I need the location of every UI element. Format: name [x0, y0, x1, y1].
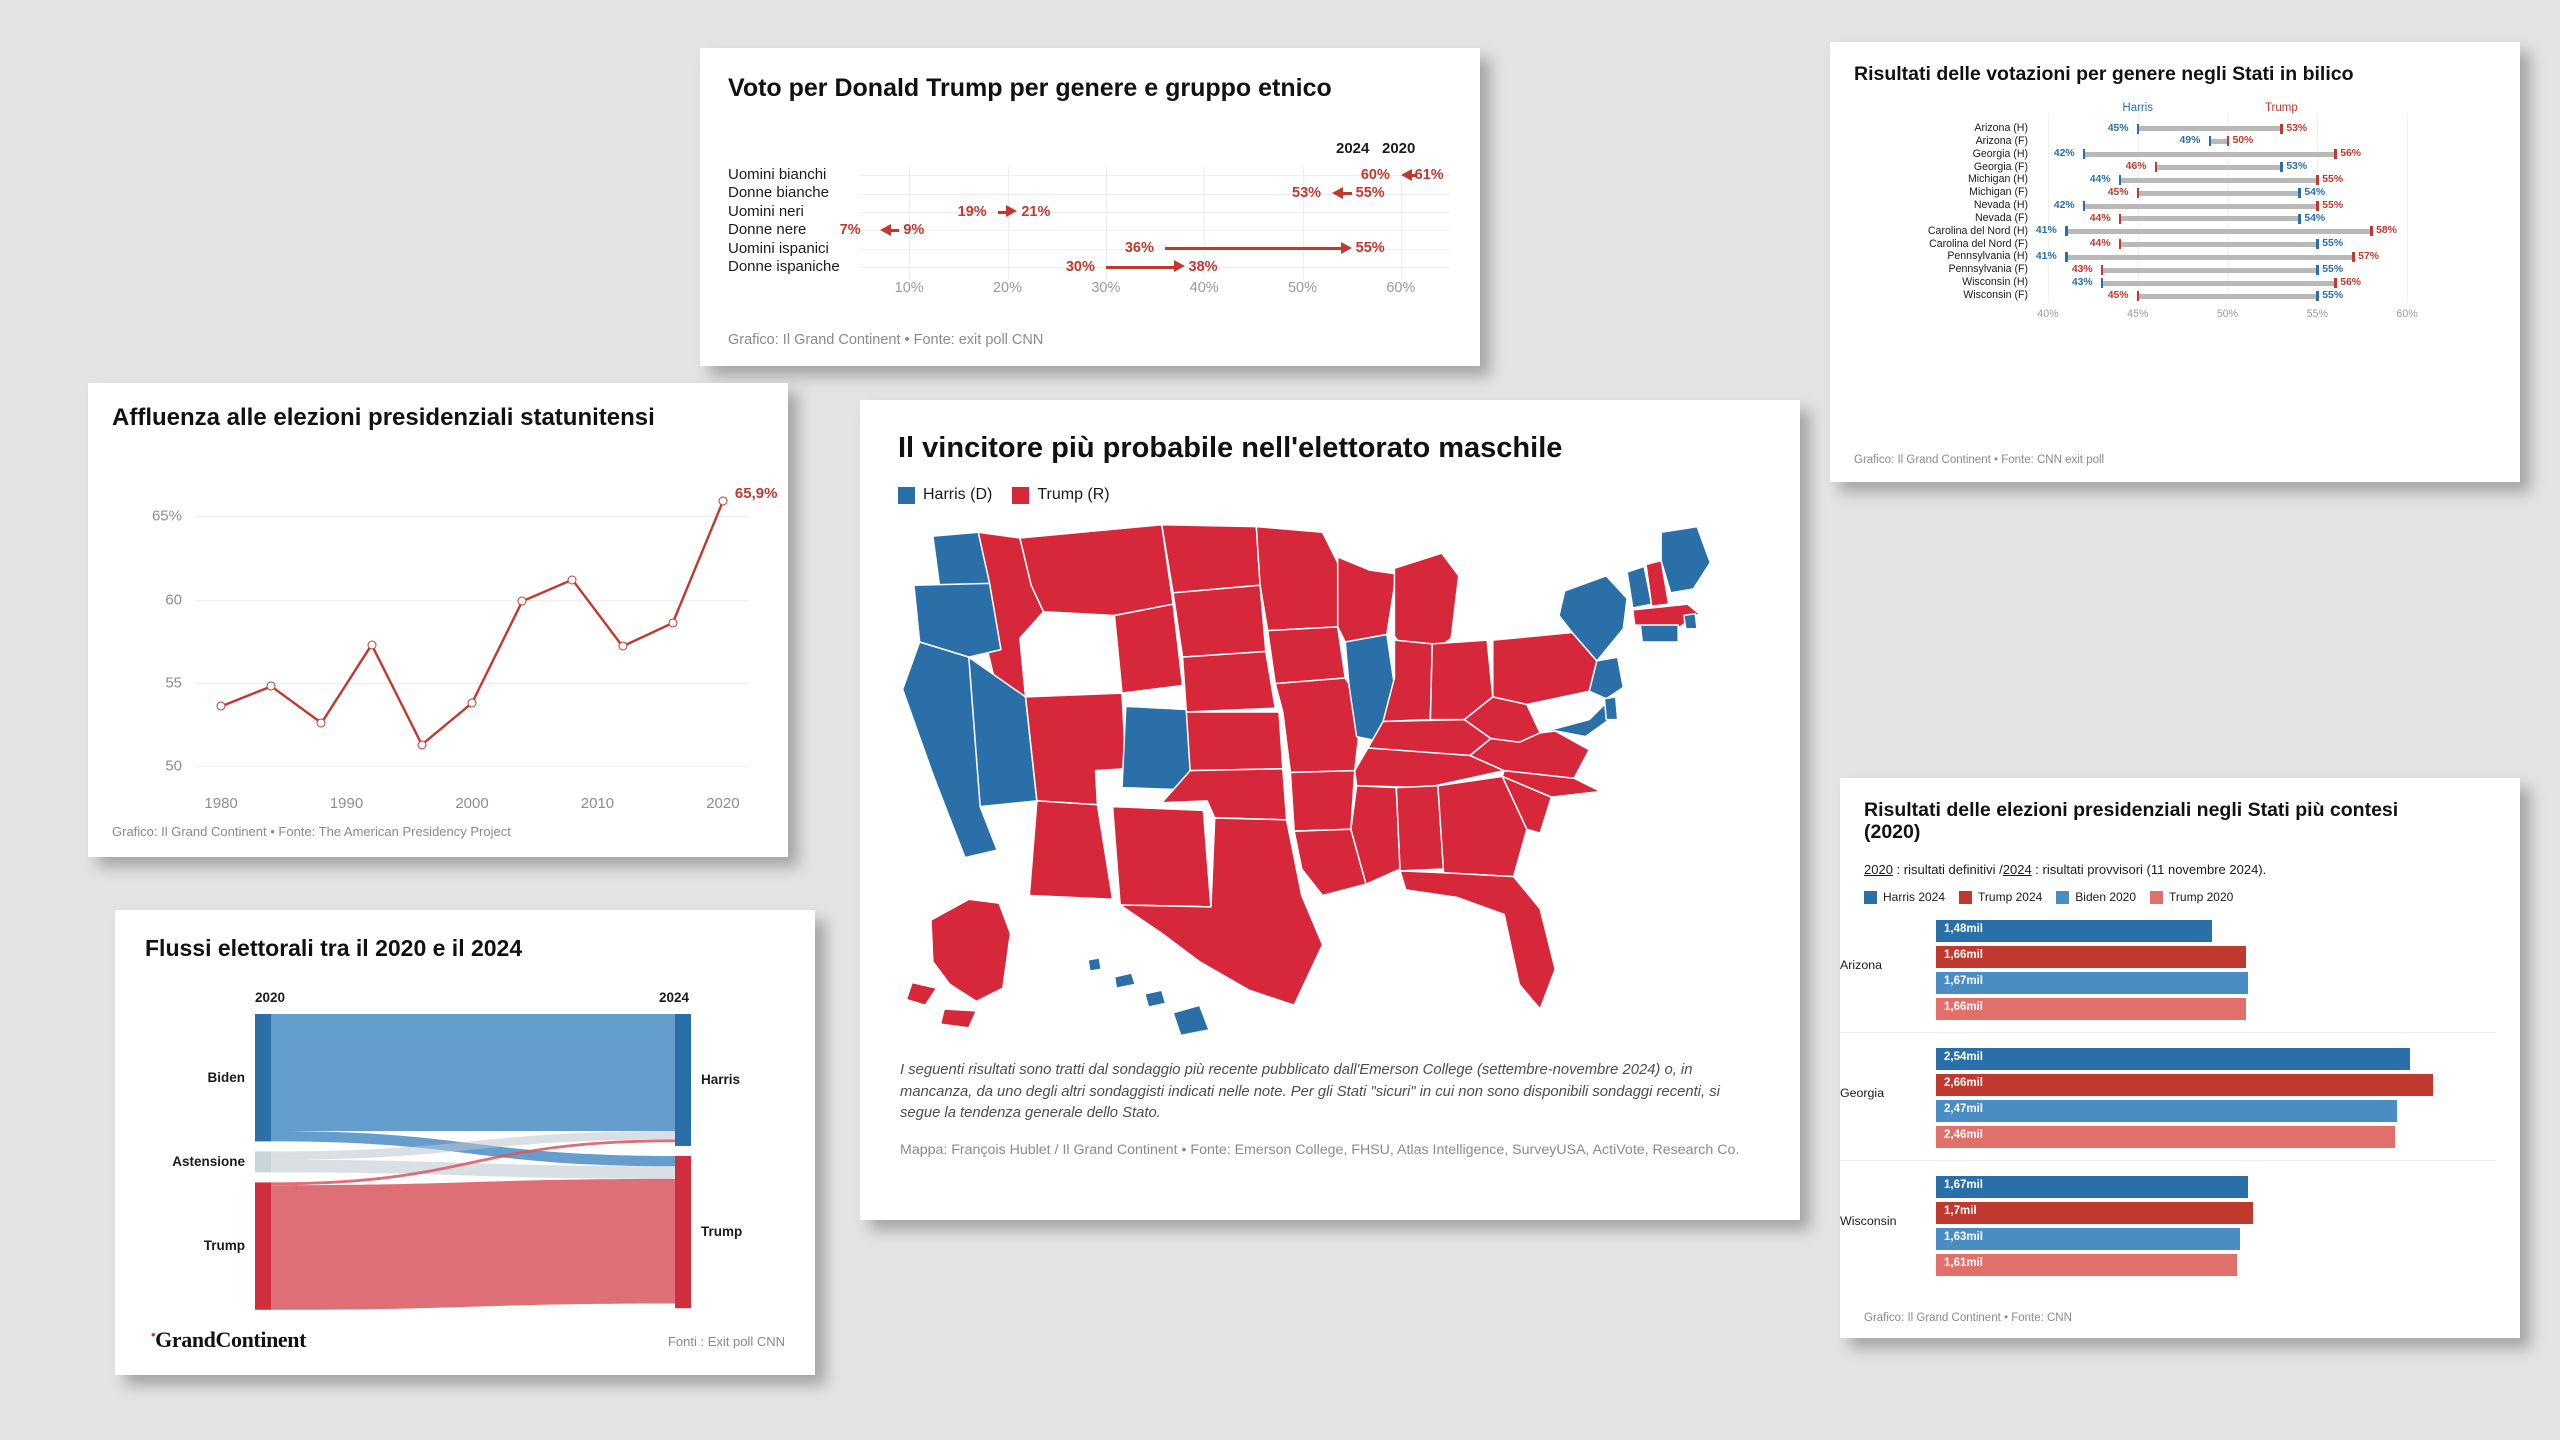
sankey-node-right-harris[interactable]: [675, 1014, 691, 1146]
grand-continent-logo: •GrandContinent: [151, 1327, 306, 1353]
state-wisconsin: [1338, 557, 1397, 642]
arrow-row-label: Uomini ispanici: [728, 240, 858, 258]
bars-legend-swatch-2: [2056, 891, 2069, 904]
swing-value-left: 43%: [2072, 277, 2093, 288]
bars-chart-plot: 1,48mil1,66mil1,67mil1,66milArizona2,54m…: [1936, 920, 2496, 1270]
arrow-row: 61%60%: [860, 166, 1450, 184]
bars-group-separator: [1840, 1160, 2496, 1161]
arrow-value-from: 9%: [903, 222, 924, 238]
state-southdakota: [1173, 585, 1266, 657]
state-iowa: [1268, 627, 1346, 684]
swing-row: 46%53%: [2030, 161, 2425, 174]
bars-group-label-wisconsin: Wisconsin: [1840, 1214, 1896, 1228]
arrow-row-label: Donne bianche: [728, 184, 858, 202]
bars-legend-label-3: Trump 2020: [2169, 890, 2233, 904]
swing-row: 41%58%: [2030, 225, 2425, 238]
arrow-shaft: [890, 229, 900, 232]
state-missouri: [1275, 678, 1362, 773]
swing-tick-right: [2334, 149, 2337, 159]
arrow-value-from: 61%: [1415, 167, 1444, 183]
bars-legend-label-1: Trump 2024: [1978, 890, 2042, 904]
bars-legend-label-0: Harris 2024: [1883, 890, 1945, 904]
arrow-row-label: Uomini bianchi: [728, 166, 858, 184]
swing-bar: [2138, 126, 2282, 131]
swing-tick-left: [2119, 175, 2122, 185]
swing-tick-left: [2119, 239, 2122, 249]
swing-row-label: Wisconsin (F): [1844, 289, 2028, 302]
swing-tick-left: [2155, 162, 2158, 172]
sankey-node-left-biden[interactable]: [255, 1014, 271, 1141]
swing-bar: [2066, 229, 2371, 234]
swing-value-right: 56%: [2340, 277, 2361, 288]
swing-value-left: 49%: [2180, 135, 2201, 146]
turnout-x-tick: 2000: [455, 795, 488, 812]
arrow-chart-plot: 10%20%30%40%50%60%61%60%55%53%19%21%9%7%…: [860, 166, 1450, 276]
state-alaska: [906, 899, 1010, 1028]
swing-row-label: Arizona (H): [1844, 122, 2028, 135]
swing-x-tick: 60%: [2396, 308, 2417, 320]
arrow-row: 19%21%: [860, 203, 1450, 221]
sankey-node-left-astensione[interactable]: [255, 1151, 271, 1172]
turnout-data-point: [417, 740, 426, 749]
arrow-value-to: 7%: [840, 222, 861, 238]
swing-bar: [2138, 191, 2300, 196]
arrow-value-to: 21%: [1021, 204, 1050, 220]
arrow-value-to: 53%: [1292, 185, 1321, 201]
us-states-map[interactable]: [878, 512, 1786, 1052]
swing-value-left: 44%: [2090, 238, 2111, 249]
swing-bar: [2084, 152, 2335, 157]
swing-row: 43%55%: [2030, 263, 2425, 276]
swing-row-label: Pennsylvania (F): [1844, 263, 2028, 276]
turnout-x-tick: 2010: [581, 795, 614, 812]
turnout-data-point: [618, 642, 627, 651]
swing-header-trump: Trump: [2265, 102, 2298, 114]
swing-tick-right: [2316, 175, 2319, 185]
bars-legend-swatch-3: [2150, 891, 2163, 904]
arrow-row-label: Uomini neri: [728, 203, 858, 221]
swing-row-label: Carolina del Nord (H): [1844, 225, 2028, 238]
arrow-value-to: 55%: [1356, 240, 1385, 256]
swing-row-label: Georgia (H): [1844, 148, 2028, 161]
swing-row: 43%56%: [2030, 276, 2425, 289]
swing-tick-right: [2334, 278, 2337, 288]
swing-tick-right: [2280, 162, 2283, 172]
bars-bar-georgia-1[interactable]: 2,66mil: [1936, 1074, 2433, 1096]
swing-chart-source: Grafico: Il Grand Continent • Fonte: CNN…: [1854, 454, 2104, 466]
swing-row: 42%56%: [2030, 148, 2425, 161]
state-kansas: [1186, 712, 1282, 771]
bars-bar-value: 1,61mil: [1944, 1257, 1983, 1269]
turnout-line-path: [196, 483, 748, 783]
swing-x-tick: 45%: [2127, 308, 2148, 320]
swing-bar: [2138, 294, 2318, 299]
swing-tick-right: [2227, 136, 2230, 146]
swing-row-label: Pennsylvania (H): [1844, 250, 2028, 263]
swing-value-right: 57%: [2358, 251, 2379, 262]
turnout-y-tick: 50: [165, 758, 182, 775]
arrow-year-2024-label: 2024: [1336, 140, 1369, 157]
turnout-chart-plot: 65%6055501980199020002010202065,9%: [196, 483, 748, 783]
map-legend: Harris (D) Trump (R): [898, 486, 1110, 504]
swing-tick-right: [2370, 226, 2373, 236]
swing-x-tick: 55%: [2307, 308, 2328, 320]
swing-tick-left: [2137, 291, 2140, 301]
swing-value-left: 41%: [2036, 251, 2057, 262]
swing-row: 45%53%: [2030, 122, 2425, 135]
state-maryland: [1540, 703, 1612, 737]
swing-row-label: Carolina del Nord (F): [1844, 238, 2028, 251]
swing-value-left: 42%: [2054, 148, 2075, 159]
arrow-x-tick: 40%: [1190, 280, 1219, 296]
subtitle-year-2020: 2020: [1864, 862, 1893, 877]
swing-bar: [2120, 242, 2318, 247]
swing-header-harris: Harris: [2122, 102, 2153, 114]
swing-value-right: 53%: [2286, 161, 2307, 172]
bars-bar-georgia-2[interactable]: 2,47mil: [1936, 1100, 2397, 1122]
harris-color-swatch: [898, 487, 915, 504]
bars-group-label-arizona: Arizona: [1840, 958, 1882, 972]
bars-legend-label-2: Biden 2020: [2075, 890, 2136, 904]
bars-bar-value: 2,54mil: [1944, 1051, 1983, 1063]
swing-x-tick: 50%: [2217, 308, 2238, 320]
swing-row-label: Michigan (H): [1844, 173, 2028, 186]
bars-bar-arizona-1[interactable]: 1,66mil: [1936, 946, 2246, 968]
swing-tick-right: [2298, 188, 2301, 198]
sankey-right-year: 2024: [659, 990, 689, 1005]
arrow-value-from: 30%: [1066, 259, 1095, 275]
swing-row: 44%54%: [2030, 212, 2425, 225]
swing-row: 45%55%: [2030, 289, 2425, 302]
turnout-x-tick: 1990: [330, 795, 363, 812]
turnout-chart-title: Affluenza alle elezioni presidenziali st…: [112, 405, 655, 432]
swing-tick-right: [2316, 239, 2319, 249]
state-minnesota: [1256, 527, 1343, 631]
state-nebraska: [1183, 651, 1276, 712]
swing-tick-right: [2298, 214, 2301, 224]
state-florida: [1400, 871, 1555, 1009]
bars-legend-swatch-0: [1864, 891, 1877, 904]
arrow-row-label: Donne ispaniche: [728, 258, 858, 276]
turnout-annotation: 65,9%: [735, 485, 778, 502]
swing-value-right: 53%: [2286, 123, 2307, 134]
arrow-value-from: 36%: [1125, 240, 1154, 256]
bars-legend-item-1: Trump 2024: [1959, 890, 2042, 904]
swing-tick-right: [2352, 252, 2355, 262]
turnout-y-tick: 60: [165, 591, 182, 608]
arrow-row: 55%53%: [860, 184, 1450, 202]
state-newmexico: [1113, 807, 1211, 907]
swing-bar: [2084, 204, 2317, 209]
arrow-x-tick: 20%: [993, 280, 1022, 296]
bars-bar-wisconsin-1[interactable]: 1,7mil: [1936, 1202, 2253, 1224]
turnout-data-point: [568, 575, 577, 584]
swing-value-left: 45%: [2108, 123, 2129, 134]
subtitle-text-b: : risultati provvisori (11 novembre 2024…: [2032, 862, 2267, 877]
swing-tick-left: [2101, 278, 2104, 288]
swing-tick-left: [2083, 201, 2086, 211]
swing-tick-left: [2083, 149, 2086, 159]
swing-states-panel: Risultati delle votazioni per genere neg…: [1830, 42, 2520, 482]
swing-value-left: 46%: [2126, 161, 2147, 172]
arrow-x-tick: 50%: [1288, 280, 1317, 296]
arrow-chart-title: Voto per Donald Trump per genere e grupp…: [728, 74, 1332, 102]
arrow-row: 36%55%: [860, 239, 1450, 257]
swing-tick-right: [2316, 291, 2319, 301]
harris-legend-label: Harris (D): [923, 486, 992, 504]
turnout-data-point: [267, 682, 276, 691]
bars-group-label-georgia: Georgia: [1840, 1086, 1884, 1100]
bars-chart-source: Grafico: Il Grand Continent • Fonte: CNN: [1864, 1312, 2072, 1324]
bars-bar-wisconsin-3[interactable]: 1,61mil: [1936, 1254, 2237, 1276]
bars-legend-item-3: Trump 2020: [2150, 890, 2233, 904]
arrow-row: 30%38%: [860, 258, 1450, 276]
arrow-value-from: 19%: [958, 204, 987, 220]
arrow-shaft: [1165, 247, 1342, 250]
swing-value-right: 56%: [2340, 148, 2361, 159]
swing-value-right: 55%: [2322, 200, 2343, 211]
swing-x-tick: 40%: [2037, 308, 2058, 320]
swing-tick-left: [2209, 136, 2212, 146]
voter-flow-panel: Flussi elettorali tra il 2020 e il 2024 …: [115, 910, 815, 1375]
swing-row-label: Nevada (H): [1844, 199, 2028, 212]
swing-bar: [2156, 165, 2282, 170]
bars-bar-value: 1,48mil: [1944, 923, 1983, 935]
arrow-head: [1006, 205, 1017, 217]
turnout-x-tick: 1980: [204, 795, 237, 812]
swing-value-left: 45%: [2108, 290, 2129, 301]
swing-value-left: 43%: [2072, 264, 2093, 275]
bars-bar-wisconsin-0[interactable]: 1,67mil: [1936, 1176, 2248, 1198]
swing-row-label: Nevada (F): [1844, 212, 2028, 225]
turnout-data-point: [367, 640, 376, 649]
swing-value-right: 55%: [2322, 290, 2343, 301]
swing-tick-left: [2137, 124, 2140, 134]
state-arizona: [1029, 801, 1112, 899]
swing-chart-row-labels: Arizona (H)Arizona (F)Georgia (H)Georgia…: [1844, 122, 2028, 302]
map-source: Mappa: François Hublet / Il Grand Contin…: [900, 1140, 1762, 1161]
trump-color-swatch: [1012, 487, 1029, 504]
state-northdakota: [1162, 525, 1260, 593]
turnout-data-point: [518, 597, 527, 606]
bars-bar-value: 1,66mil: [1944, 949, 1983, 961]
swing-tick-right: [2280, 124, 2283, 134]
state-montana: [1020, 525, 1173, 616]
bars-bar-value: 1,7mil: [1944, 1205, 1977, 1217]
arrow-shaft: [1106, 266, 1175, 269]
swing-row-label: Wisconsin (H): [1844, 276, 2028, 289]
sankey-diagram: BidenAstensioneTrumpHarrisTrump20202024: [145, 990, 785, 1290]
swing-bar: [2120, 178, 2318, 183]
bars-bar-value: 1,63mil: [1944, 1231, 1983, 1243]
swing-row-label: Michigan (F): [1844, 186, 2028, 199]
swing-value-right: 55%: [2322, 174, 2343, 185]
bars-legend-item-2: Biden 2020: [2056, 890, 2136, 904]
sankey-left-year: 2020: [255, 990, 285, 1005]
swing-bar: [2102, 268, 2317, 273]
swing-tick-left: [2065, 226, 2068, 236]
sankey-flow-trump-to-trump: [271, 1179, 675, 1310]
state-alabama: [1396, 786, 1443, 871]
trump-legend-label: Trump (R): [1037, 486, 1109, 504]
state-connecticut: [1640, 625, 1678, 642]
swing-value-left: 44%: [2090, 213, 2111, 224]
map-legend-trump: Trump (R): [1012, 486, 1109, 504]
swing-chart-plot: HarrisTrump40%45%50%55%60%45%53%49%50%42…: [2030, 122, 2425, 302]
turnout-data-point: [217, 702, 226, 711]
state-utah: [1026, 693, 1126, 805]
arrow-year-2020-label: 2020: [1382, 140, 1415, 157]
map-caption: I seguenti risultati sono tratti dal son…: [900, 1060, 1762, 1125]
bars-bar-wisconsin-2[interactable]: 1,63mil: [1936, 1228, 2240, 1250]
map-panel: Il vincitore più probabile nell'elettora…: [860, 400, 1800, 1220]
arrow-head: [1341, 242, 1352, 254]
turnout-y-tick: 55: [165, 675, 182, 692]
bars-bar-arizona-2[interactable]: 1,67mil: [1936, 972, 2248, 994]
arrow-row: 9%7%: [860, 221, 1450, 239]
arrow-x-tick: 30%: [1091, 280, 1120, 296]
swing-row: 44%55%: [2030, 173, 2425, 186]
arrow-head: [1332, 187, 1343, 199]
bars-bar-value: 1,67mil: [1944, 1179, 1983, 1191]
bars-bar-georgia-3[interactable]: 2,46mil: [1936, 1126, 2395, 1148]
state-delaware: [1604, 697, 1617, 720]
arrow-shaft: [1342, 192, 1352, 195]
bars-bar-value: 2,46mil: [1944, 1129, 1983, 1141]
turnout-data-point: [468, 699, 477, 708]
bars-group-separator: [1840, 1032, 2496, 1033]
swing-bar: [2210, 139, 2228, 144]
state-maine: [1661, 527, 1710, 593]
bars-chart-title: Risultati delle elezioni presidenziali n…: [1864, 800, 2424, 844]
arrow-x-tick: 10%: [895, 280, 924, 296]
swing-value-right: 50%: [2233, 135, 2254, 146]
arrow-row-label: Donne nere: [728, 221, 858, 239]
map-title: Il vincitore più probabile nell'elettora…: [898, 432, 1562, 464]
sankey-node-left-trump[interactable]: [255, 1182, 271, 1309]
arrow-chart-panel: Voto per Donald Trump per genere e grupp…: [700, 48, 1480, 366]
bars-bar-value: 2,47mil: [1944, 1103, 1983, 1115]
swing-value-left: 44%: [2090, 174, 2111, 185]
arrow-chart-source: Grafico: Il Grand Continent • Fonte: exi…: [728, 332, 1043, 348]
swing-tick-left: [2119, 214, 2122, 224]
map-legend-harris: Harris (D): [898, 486, 992, 504]
swing-tick-right: [2316, 201, 2319, 211]
swing-value-left: 45%: [2108, 187, 2129, 198]
bars-bar-arizona-3[interactable]: 1,66mil: [1936, 998, 2246, 1020]
swing-tick-left: [2065, 252, 2068, 262]
sankey-source: Fonti : Exit poll CNN: [668, 1334, 785, 1349]
arrow-head: [1174, 260, 1185, 272]
arrow-value-to: 38%: [1189, 259, 1218, 275]
swing-row: 49%50%: [2030, 135, 2425, 148]
swing-row: 42%55%: [2030, 199, 2425, 212]
state-arkansas: [1290, 771, 1354, 832]
swing-row: 45%54%: [2030, 186, 2425, 199]
swing-row-label: Georgia (F): [1844, 161, 2028, 174]
state-rhodeisland: [1684, 614, 1697, 629]
swing-chart-title: Risultati delle votazioni per genere neg…: [1854, 64, 2354, 86]
sankey-node-right-trump[interactable]: [675, 1156, 691, 1308]
sankey-svg: [145, 1014, 785, 1314]
swing-value-right: 54%: [2304, 213, 2325, 224]
bars-bar-value: 1,67mil: [1944, 975, 1983, 987]
swing-tick-left: [2101, 265, 2104, 275]
arrow-x-tick: 60%: [1386, 280, 1415, 296]
bars-chart-legend: Harris 2024Trump 2024Biden 2020Trump 202…: [1864, 890, 2233, 904]
subtitle-year-2024: 2024: [2003, 862, 2032, 877]
bars-legend-item-0: Harris 2024: [1864, 890, 1945, 904]
turnout-x-tick: 2020: [706, 795, 739, 812]
subtitle-text-a: : risultati definitivi /: [1893, 862, 2003, 877]
bars-bar-georgia-0[interactable]: 2,54mil: [1936, 1048, 2410, 1070]
turnout-y-tick: 65%: [152, 508, 182, 525]
turnout-data-point: [718, 497, 727, 506]
arrow-chart-category-labels: Uomini bianchiDonne biancheUomini neriDo…: [728, 166, 858, 276]
state-hawaii: [1088, 958, 1209, 1036]
swing-bar: [2120, 216, 2300, 221]
arrow-head: [880, 224, 891, 236]
logo-text: GrandContinent: [155, 1327, 306, 1352]
swing-value-right: 55%: [2322, 264, 2343, 275]
arrow-head: [1401, 169, 1412, 181]
swing-row: 44%55%: [2030, 238, 2425, 251]
turnout-data-point: [668, 619, 677, 628]
swing-bar: [2066, 255, 2353, 260]
swing-row-label: Arizona (F): [1844, 135, 2028, 148]
bars-bar-value: 2,66mil: [1944, 1077, 1983, 1089]
swing-value-right: 58%: [2376, 225, 2397, 236]
swing-value-right: 55%: [2322, 238, 2343, 249]
arrow-value-from: 55%: [1356, 185, 1385, 201]
bars-bar-arizona-0[interactable]: 1,48mil: [1936, 920, 2212, 942]
swing-row: 41%57%: [2030, 251, 2425, 264]
swing-bar: [2102, 281, 2335, 286]
turnout-data-point: [317, 719, 326, 728]
swing-value-right: 54%: [2304, 187, 2325, 198]
bars-legend-swatch-1: [1959, 891, 1972, 904]
swing-tick-left: [2137, 188, 2140, 198]
bars-chart-subtitle: 2020 : risultati definitivi /2024 : risu…: [1864, 862, 2266, 877]
swing-value-left: 41%: [2036, 225, 2057, 236]
sankey-flow-biden-to-harris: [271, 1014, 675, 1131]
sankey-title: Flussi elettorali tra il 2020 e il 2024: [145, 936, 522, 962]
swing-tick-right: [2316, 265, 2319, 275]
bars-bar-value: 1,66mil: [1944, 1001, 1983, 1013]
contested-states-panel: Risultati delle elezioni presidenziali n…: [1840, 778, 2520, 1338]
turnout-chart-source: Grafico: Il Grand Continent • Fonte: The…: [112, 824, 511, 839]
swing-value-left: 42%: [2054, 200, 2075, 211]
turnout-chart-panel: Affluenza alle elezioni presidenziali st…: [88, 383, 788, 857]
arrow-value-to: 60%: [1361, 167, 1390, 183]
state-wyoming: [1114, 604, 1182, 693]
